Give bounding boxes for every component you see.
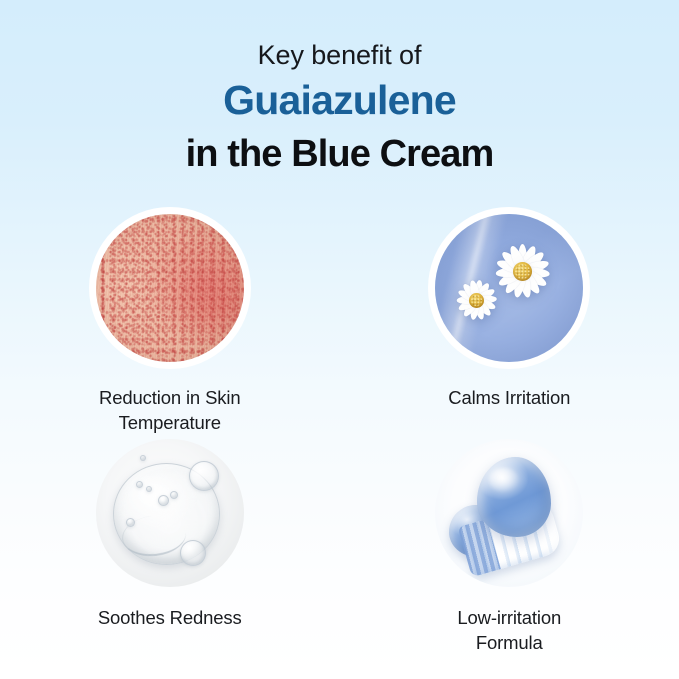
heading-ingredient-name: Guaiazulene xyxy=(0,74,679,127)
benefit-infographic: Key benefit of Guaiazulene in the Blue C… xyxy=(0,0,679,679)
benefit-caption-line1: Reduction in Skin xyxy=(99,387,240,408)
clear-gel-droplet-image xyxy=(96,439,244,587)
heading-product-name: in the Blue Cream xyxy=(0,129,679,179)
benefit-item-low-irritation-formula: Low-irritation Formula xyxy=(379,439,639,664)
bubble xyxy=(180,540,206,566)
cream-blob xyxy=(477,457,551,537)
benefit-caption-line2: Temperature xyxy=(119,412,221,433)
benefits-grid: Reduction in Skin Temperature xyxy=(0,214,679,664)
benefit-caption-line1: Low-irritation xyxy=(457,607,561,628)
vignette-overlay xyxy=(435,214,583,362)
benefit-caption: Calms Irritation xyxy=(448,385,570,410)
bubble xyxy=(146,486,152,492)
benefit-item-calms-irritation: Calms Irritation xyxy=(379,214,639,439)
benefit-item-reduction-in-skin-temperature: Reduction in Skin Temperature xyxy=(40,214,300,439)
heading-block: Key benefit of Guaiazulene in the Blue C… xyxy=(0,36,679,179)
benefit-caption-line1: Soothes Redness xyxy=(98,607,242,628)
benefit-caption-line1: Calms Irritation xyxy=(448,387,570,408)
bubble xyxy=(170,491,178,499)
blue-cream-swatch-image xyxy=(435,439,583,587)
benefit-caption: Low-irritation Formula xyxy=(457,605,561,655)
bubble xyxy=(140,455,146,461)
benefit-item-soothes-redness: Soothes Redness xyxy=(40,439,300,664)
bubble xyxy=(158,495,169,506)
bubble xyxy=(136,481,143,488)
benefit-caption: Reduction in Skin Temperature xyxy=(99,385,240,435)
bubble xyxy=(189,461,219,491)
heading-kicker: Key benefit of xyxy=(0,36,679,74)
irritated-red-skin-image xyxy=(96,214,244,362)
chamomile-flowers-image xyxy=(435,214,583,362)
benefit-caption-line2: Formula xyxy=(476,632,543,653)
bubble xyxy=(126,518,135,527)
benefit-caption: Soothes Redness xyxy=(98,605,242,630)
